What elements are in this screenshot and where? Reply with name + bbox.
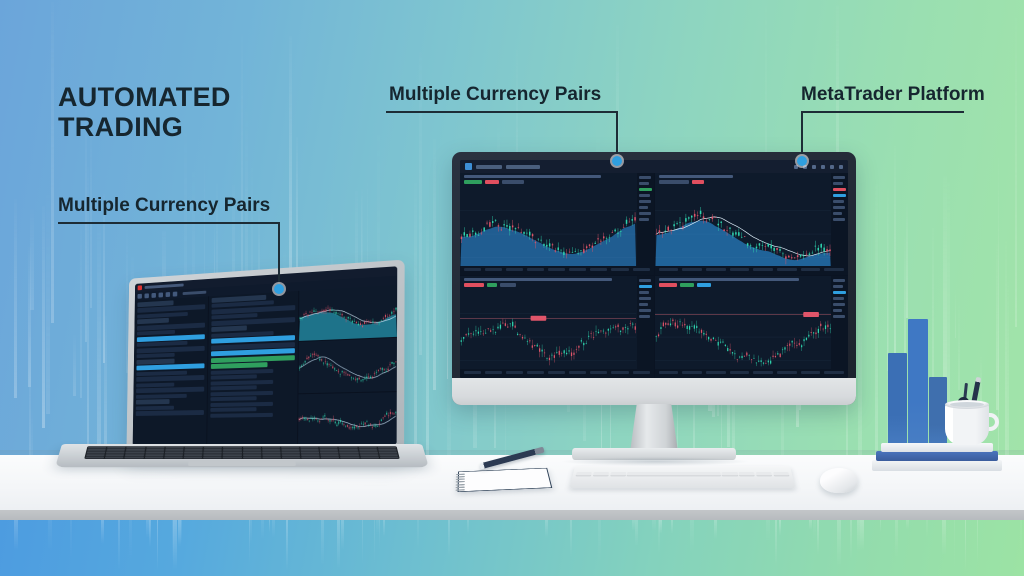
- list-item[interactable]: [137, 345, 205, 353]
- candlestick-chart-bottom-left: [460, 290, 636, 378]
- market-watch-panel[interactable]: [133, 296, 208, 445]
- menu-label-view[interactable]: [506, 165, 540, 169]
- candlestick-chart: [299, 285, 397, 341]
- scene-root: AUTOMATED TRADING Multiple Currency Pair…: [0, 0, 1024, 576]
- clock-icon[interactable]: [821, 165, 825, 169]
- pane-bottom-right[interactable]: [655, 276, 849, 378]
- page-title-line-2: TRADING: [58, 112, 231, 142]
- price-axis-right: [831, 276, 848, 378]
- tree-item[interactable]: [210, 412, 272, 417]
- desktop-monitor[interactable]: [452, 152, 856, 405]
- callout-rule-laptop: [58, 222, 280, 224]
- timeframe-icon[interactable]: [159, 292, 163, 297]
- monitor-screen[interactable]: [460, 160, 848, 378]
- list-item[interactable]: [136, 410, 204, 416]
- chart-icon[interactable]: [151, 293, 155, 298]
- monitor-chin: [452, 378, 856, 405]
- laptop-screen-dot[interactable]: [274, 284, 284, 294]
- mug-body: [945, 403, 989, 445]
- laptop[interactable]: [62, 268, 422, 490]
- coffee-mug[interactable]: [945, 395, 997, 445]
- list-item-selected[interactable]: [136, 363, 204, 370]
- tree-item[interactable]: [211, 385, 257, 390]
- list-item[interactable]: [137, 353, 175, 358]
- laptop-screen[interactable]: [133, 266, 398, 445]
- time-axis-bottom: [655, 266, 849, 275]
- list-item[interactable]: [136, 405, 174, 410]
- close-icon[interactable]: [839, 165, 843, 169]
- callout-rule-monitor-left: [386, 111, 618, 113]
- price-axis-right: [637, 173, 654, 275]
- page-title: AUTOMATED TRADING: [58, 82, 231, 142]
- price-axis-right: [831, 173, 848, 275]
- tree-item[interactable]: [210, 401, 272, 406]
- spiral-binding: [455, 473, 463, 491]
- bar-2: [908, 319, 928, 457]
- candlestick-chart-top-right: [655, 187, 831, 275]
- new-order-icon[interactable]: [137, 294, 141, 299]
- tree-item[interactable]: [210, 407, 256, 412]
- pane-header: [460, 173, 654, 189]
- callout-label-monitor-right: MetaTrader Platform: [801, 84, 985, 106]
- mug-inner: [950, 402, 984, 407]
- tree-item[interactable]: [211, 368, 273, 374]
- floor-candlestick-decoration: [0, 520, 1024, 576]
- bar-chart-decoration: [888, 312, 950, 457]
- laptop-chart-stack: [298, 285, 397, 445]
- laptop-trackpad[interactable]: [188, 460, 296, 466]
- candlestick-chart-bottom-right: [655, 290, 831, 378]
- menu-label-file[interactable]: [476, 165, 502, 169]
- monitor-stand-neck: [630, 404, 678, 452]
- laptop-workspace: [133, 285, 398, 446]
- tree-item[interactable]: [210, 396, 256, 401]
- callout-leader-monitor-left: [616, 111, 618, 160]
- pane-bottom-left[interactable]: [460, 276, 654, 378]
- tree-item[interactable]: [211, 374, 257, 379]
- tree-item-active[interactable]: [211, 362, 268, 369]
- laptop-chart-mid[interactable]: [298, 338, 396, 393]
- candlestick-chart: [298, 392, 397, 445]
- toolbar-label: [183, 291, 207, 295]
- window-title: [145, 284, 184, 289]
- monitor-app-toolbar[interactable]: [460, 160, 848, 173]
- autotrading-icon[interactable]: [144, 293, 148, 298]
- pane-top-left[interactable]: [460, 173, 654, 275]
- pane-header: [460, 276, 654, 292]
- monitor-bezel-dot-left[interactable]: [612, 156, 622, 166]
- pane-header: [655, 276, 849, 292]
- callout-label-monitor-left: Multiple Currency Pairs: [389, 84, 601, 106]
- tree-item-active[interactable]: [211, 355, 295, 363]
- gear-icon[interactable]: [794, 165, 798, 169]
- callout-rule-monitor-right: [801, 111, 964, 113]
- tree-item[interactable]: [211, 379, 273, 385]
- callout-leader-monitor-right: [801, 111, 803, 160]
- price-axis-right: [637, 276, 654, 378]
- monitor-bezel-dot-right[interactable]: [797, 156, 807, 166]
- template-icon[interactable]: [173, 292, 178, 297]
- pane-top-right[interactable]: [655, 173, 849, 275]
- notepad[interactable]: [458, 468, 553, 492]
- laptop-chart-bottom[interactable]: [298, 392, 397, 445]
- time-axis-bottom: [460, 266, 654, 275]
- page-title-line-1: AUTOMATED: [58, 82, 231, 112]
- tree-item[interactable]: [211, 390, 273, 395]
- mouse[interactable]: [820, 468, 858, 493]
- group-header: [211, 325, 246, 332]
- app-logo-icon: [465, 163, 472, 170]
- list-item[interactable]: [137, 330, 175, 336]
- list-item[interactable]: [136, 375, 204, 382]
- pane-header: [655, 173, 849, 189]
- time-axis-bottom: [655, 369, 849, 378]
- list-item[interactable]: [136, 393, 187, 398]
- book-bottom: [872, 460, 1002, 471]
- indicator-icon[interactable]: [166, 292, 171, 297]
- laptop-lid: [126, 260, 404, 454]
- monitor-chart-grid: [460, 173, 848, 378]
- callout-label-laptop: Multiple Currency Pairs: [58, 195, 270, 217]
- navigator-panel[interactable]: [207, 291, 298, 445]
- app-logo-icon: [138, 285, 142, 290]
- group-header: [136, 399, 169, 404]
- list-item[interactable]: [136, 387, 204, 394]
- keyboard[interactable]: [570, 466, 796, 488]
- monitor-base-shadow: [560, 457, 750, 466]
- list-item[interactable]: [136, 382, 174, 387]
- callout-leader-laptop: [278, 222, 280, 288]
- candlestick-chart: [298, 338, 396, 393]
- candlestick-chart-top-left: [460, 187, 636, 275]
- group-header: [137, 318, 169, 324]
- laptop-chart-top[interactable]: [299, 285, 397, 341]
- group-header: [137, 358, 175, 364]
- laptop-base: [55, 444, 429, 467]
- time-axis-bottom: [460, 369, 654, 378]
- settings-icon[interactable]: [830, 165, 834, 169]
- laptop-keyboard[interactable]: [84, 446, 400, 459]
- chart-icon[interactable]: [812, 165, 816, 169]
- book-middle: [876, 451, 998, 461]
